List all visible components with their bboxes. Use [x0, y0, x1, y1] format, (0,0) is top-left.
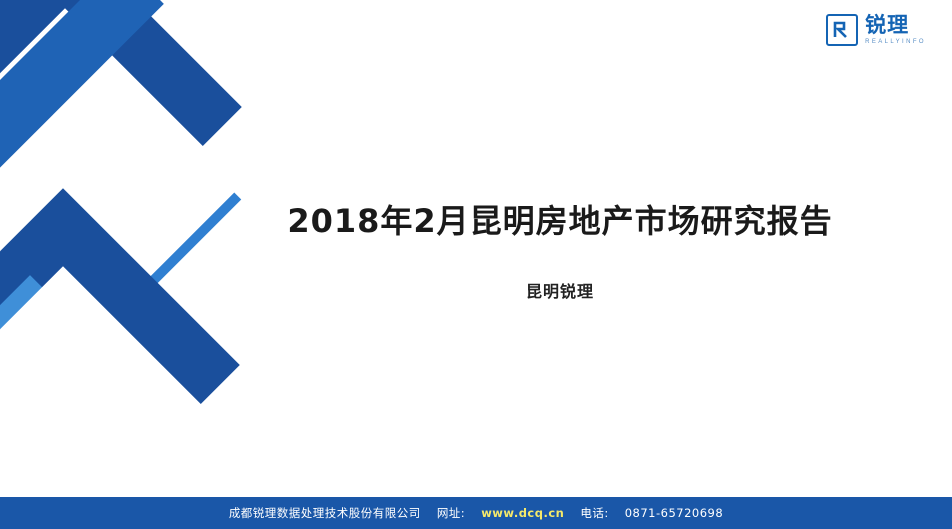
- footer-website-label: 网址:: [437, 505, 465, 521]
- footer-website-url[interactable]: www.dcq.cn: [481, 506, 564, 520]
- logo-name-en: REALLYINFO: [865, 39, 926, 45]
- slide-canvas: 锐理 REALLYINFO 2018年2月昆明房地产市场研究报告 昆明锐理 成都…: [0, 0, 952, 529]
- r-monogram-icon: [826, 14, 858, 46]
- brand-logo: 锐理 REALLYINFO: [826, 14, 926, 46]
- footer-phone-number: 0871-65720698: [625, 506, 723, 520]
- logo-name-cn: 锐理: [865, 15, 909, 36]
- page-subtitle: 昆明锐理: [230, 278, 890, 302]
- decorative-chevron-graphic: [0, 0, 300, 497]
- slide-footer: 成都锐理数据处理技术股份有限公司 网址: www.dcq.cn 电话: 0871…: [0, 497, 952, 529]
- page-title: 2018年2月昆明房地产市场研究报告: [230, 196, 890, 242]
- footer-phone-label: 电话:: [580, 505, 608, 521]
- footer-company: 成都锐理数据处理技术股份有限公司: [229, 505, 421, 521]
